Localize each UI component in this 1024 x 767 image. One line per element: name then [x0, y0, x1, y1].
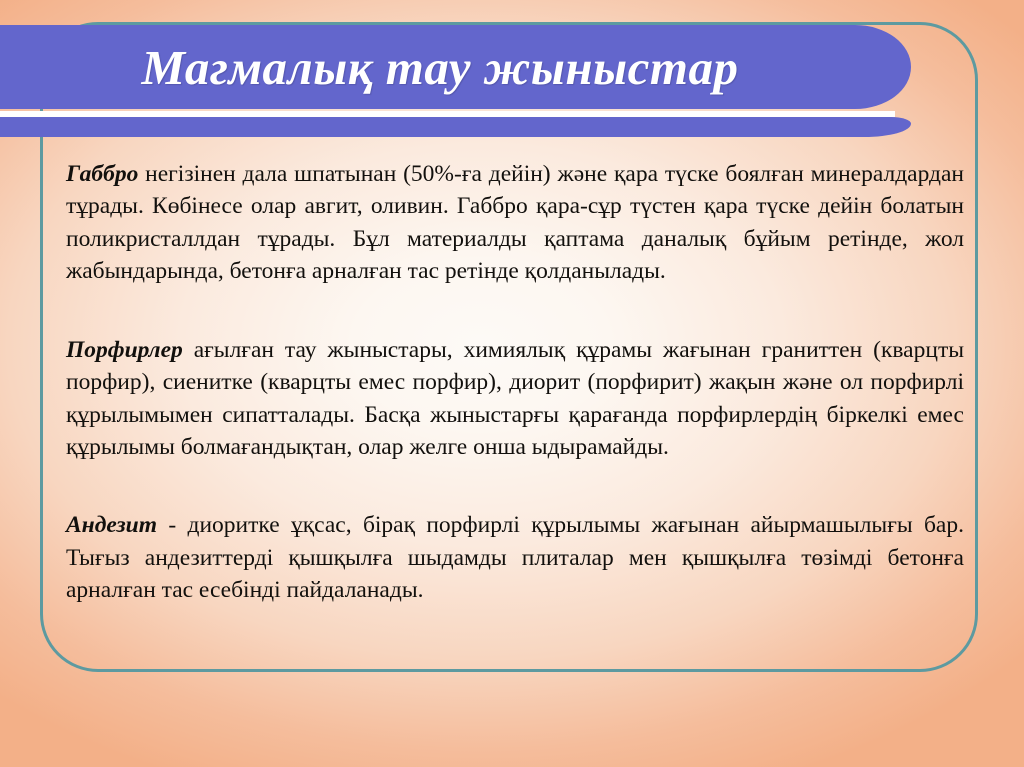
paragraph-lead-term: Порфирлер [66, 337, 183, 363]
page-title: Магмалық тау жыныстар [0, 25, 880, 109]
paragraph-lead-term: Андезит [66, 512, 157, 538]
presentation-slide: Магмалық тау жыныстар Габбро негізінен д… [0, 0, 1024, 767]
paragraph-gabbro: Габбро негізінен дала шпатынан (50%-ға д… [66, 158, 964, 288]
paragraph-andezit: Андезит - диоритке ұқсас, бірақ порфирлі… [66, 509, 964, 606]
slide-body: Габбро негізінен дала шпатынан (50%-ға д… [66, 158, 964, 607]
paragraph-text: - диоритке ұқсас, бірақ порфирлі құрылым… [66, 512, 964, 603]
paragraph-porfirler: Порфирлер ағылған тау жыныстары, химиялы… [66, 334, 964, 464]
paragraph-lead-term: Габбро [66, 161, 138, 187]
paragraph-text: ағылған тау жыныстары, химиялық құрамы ж… [66, 337, 964, 460]
header-purple-underbar [0, 117, 911, 137]
slide-header-banner: Магмалық тау жыныстар [0, 25, 911, 137]
paragraph-text: негізінен дала шпатынан (50%-ға дейін) ж… [66, 161, 964, 284]
